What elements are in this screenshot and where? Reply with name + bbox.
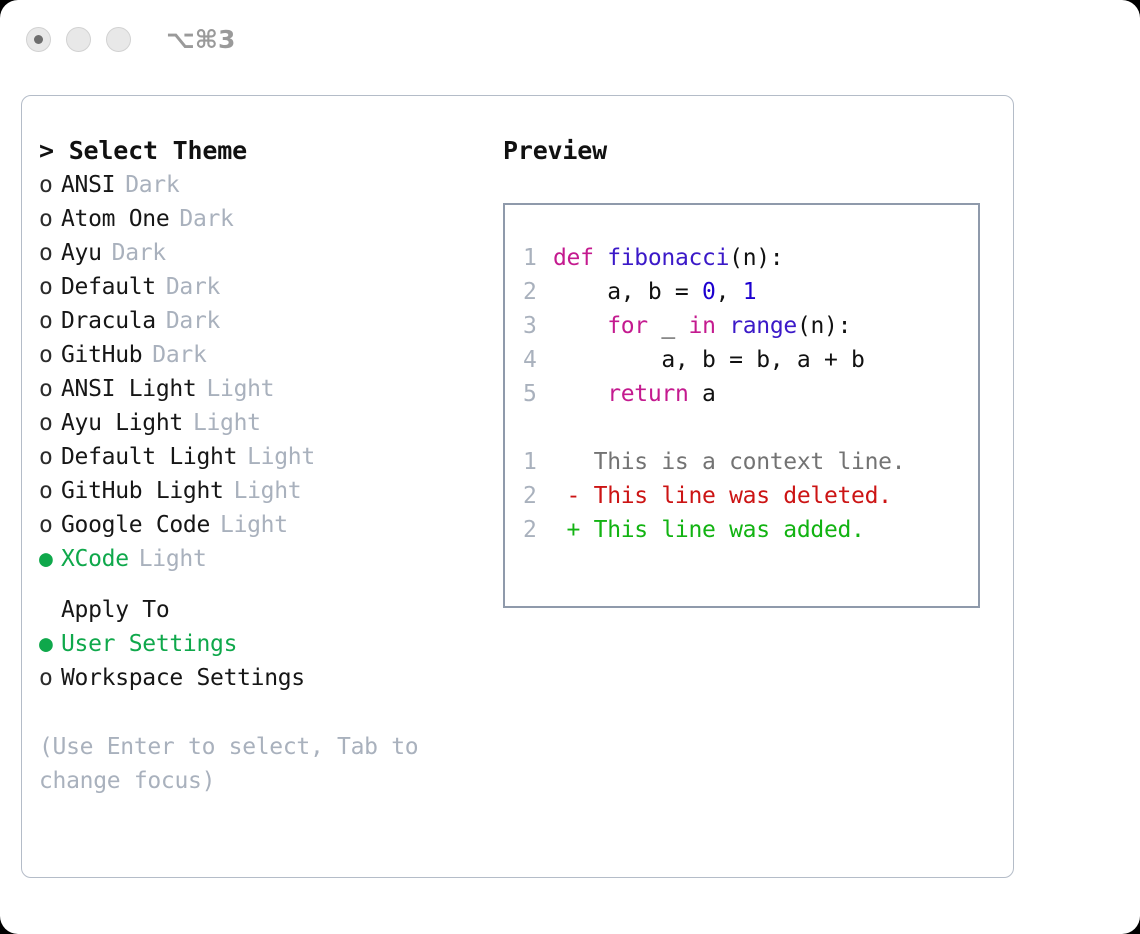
token-txt [553,381,607,407]
window-controls [26,27,131,52]
theme-option-label: Atom One [61,202,169,236]
theme-option-tag: Dark [152,338,206,372]
theme-option-tag: Light [139,542,207,576]
line-number: 2 [523,513,553,547]
theme-option-label: GitHub [61,338,142,372]
token-txt: _ [648,313,689,339]
apply-to-header: Apply To [39,593,492,627]
theme-option-tag: Light [193,406,261,440]
theme-option-tag: Light [220,508,288,542]
theme-option-2[interactable]: oAyuDark [39,236,492,270]
theme-option-label: Ayu [61,236,102,270]
theme-option-4[interactable]: oDraculaDark [39,304,492,338]
theme-option-1[interactable]: oAtom OneDark [39,202,492,236]
theme-option-11[interactable]: ●XCodeLight [39,542,492,576]
theme-option-tag: Light [206,372,274,406]
radio-unselected-icon: o [39,338,61,372]
app-window: ⌥⌘3 > Select Theme oANSIDarkoAtom OneDar… [0,0,1140,934]
theme-option-tag: Light [247,440,315,474]
line-content: a, b = b, a + b [553,343,865,377]
theme-option-5[interactable]: oGitHubDark [39,338,492,372]
line-number: 1 [523,241,553,275]
token-add: + This line was added. [553,517,865,543]
theme-option-7[interactable]: oAyu LightLight [39,406,492,440]
apply-to-option-1[interactable]: oWorkspace Settings [39,661,492,695]
radio-selected-icon: ● [39,542,61,576]
token-fn: fibonacci [607,245,729,271]
theme-option-label: Google Code [61,508,210,542]
code-line-2: 3 for _ in range(n): [523,309,978,343]
theme-option-10[interactable]: oGoogle CodeLight [39,508,492,542]
token-txt: (n): [797,313,851,339]
line-content: a, b = 0, 1 [553,275,756,309]
theme-list-pane: > Select Theme oANSIDarkoAtom OneDarkoAy… [22,134,492,877]
window-dot-3[interactable] [106,27,131,52]
line-number: 2 [523,275,553,309]
window-dot-active-indicator [34,35,43,44]
apply-to-list: ●User SettingsoWorkspace Settings [39,627,492,695]
code-line-3: 4 a, b = b, a + b [523,343,978,377]
token-del: - This line was deleted. [553,483,892,509]
preview-code-box: 1def fibonacci(n):2 a, b = 0, 13 for _ i… [503,203,980,608]
code-diff-separator [523,411,978,445]
theme-option-label: Ayu Light [61,406,183,440]
line-content: This is a context line. [553,445,905,479]
theme-option-3[interactable]: oDefaultDark [39,270,492,304]
radio-unselected-icon: o [39,202,61,236]
line-content: + This line was added. [553,513,865,547]
radio-unselected-icon: o [39,168,61,202]
radio-unselected-icon: o [39,440,61,474]
code-line-1: 2 a, b = 0, 1 [523,275,978,309]
line-number: 2 [523,479,553,513]
token-kw: for [607,313,648,339]
keyboard-shortcut-label: ⌥⌘3 [166,25,235,54]
theme-option-tag: Light [234,474,302,508]
line-content: return a [553,377,716,411]
apply-to-option-0[interactable]: ●User Settings [39,627,492,661]
preview-pane: Preview 1def fibonacci(n):2 a, b = 0, 13… [492,134,1013,877]
radio-unselected-icon: o [39,372,61,406]
window-dot-active[interactable] [26,27,51,52]
theme-option-6[interactable]: oANSI LightLight [39,372,492,406]
radio-unselected-icon: o [39,661,61,695]
line-content: def fibonacci(n): [553,241,783,275]
line-number: 3 [523,309,553,343]
theme-option-tag: Dark [166,270,220,304]
token-txt [553,313,607,339]
select-theme-header: > Select Theme [39,134,492,168]
theme-option-label: ANSI Light [61,372,196,406]
line-number: 4 [523,343,553,377]
theme-option-label: ANSI [61,168,115,202]
theme-option-tag: Dark [125,168,179,202]
diff-line-2: 2 + This line was added. [523,513,978,547]
diff-line-1: 2 - This line was deleted. [523,479,978,513]
theme-option-label: Default [61,270,156,304]
token-kw: return [607,381,688,407]
code-line-4: 5 return a [523,377,978,411]
code-line-0: 1def fibonacci(n): [523,241,978,275]
token-txt: a, b = [553,279,702,305]
token-txt [716,313,730,339]
title-bar: ⌥⌘3 [0,0,1140,78]
diff-sample: 1 This is a context line.2 - This line w… [523,445,978,547]
apply-to-option-label: Workspace Settings [61,661,305,695]
radio-unselected-icon: o [39,236,61,270]
keyboard-hint: (Use Enter to select, Tab to change focu… [39,730,444,798]
token-num: 0 [702,279,716,305]
line-number: 5 [523,377,553,411]
radio-unselected-icon: o [39,304,61,338]
theme-option-tag: Dark [112,236,166,270]
token-ctx: This is a context line. [553,449,905,475]
token-fn: range [729,313,797,339]
radio-unselected-icon: o [39,474,61,508]
theme-list: oANSIDarkoAtom OneDarkoAyuDarkoDefaultDa… [39,168,492,576]
theme-option-label: Default Light [61,440,237,474]
apply-to-option-label: User Settings [61,627,237,661]
theme-option-0[interactable]: oANSIDark [39,168,492,202]
theme-option-label: GitHub Light [61,474,224,508]
token-txt: a, b = b, a + b [553,347,865,373]
token-txt: (n): [729,245,783,271]
line-content: for _ in range(n): [553,309,851,343]
theme-option-label: XCode [61,542,129,576]
token-kw: def [553,245,607,271]
code-sample: 1def fibonacci(n):2 a, b = 0, 13 for _ i… [523,241,978,411]
token-txt: a [689,381,716,407]
theme-option-tag: Dark [166,304,220,338]
theme-option-8[interactable]: oDefault LightLight [39,440,492,474]
radio-unselected-icon: o [39,406,61,440]
radio-unselected-icon: o [39,270,61,304]
theme-option-9[interactable]: oGitHub LightLight [39,474,492,508]
radio-unselected-icon: o [39,508,61,542]
line-number: 1 [523,445,553,479]
preview-title: Preview [503,134,1013,168]
line-content: - This line was deleted. [553,479,892,513]
theme-selector-card: > Select Theme oANSIDarkoAtom OneDarkoAy… [21,95,1014,878]
diff-line-0: 1 This is a context line. [523,445,978,479]
theme-option-label: Dracula [61,304,156,338]
token-txt: , [716,279,743,305]
radio-selected-icon: ● [39,627,61,661]
theme-option-tag: Dark [179,202,233,236]
token-num: 1 [743,279,757,305]
window-dot-2[interactable] [66,27,91,52]
token-kw: in [689,313,716,339]
